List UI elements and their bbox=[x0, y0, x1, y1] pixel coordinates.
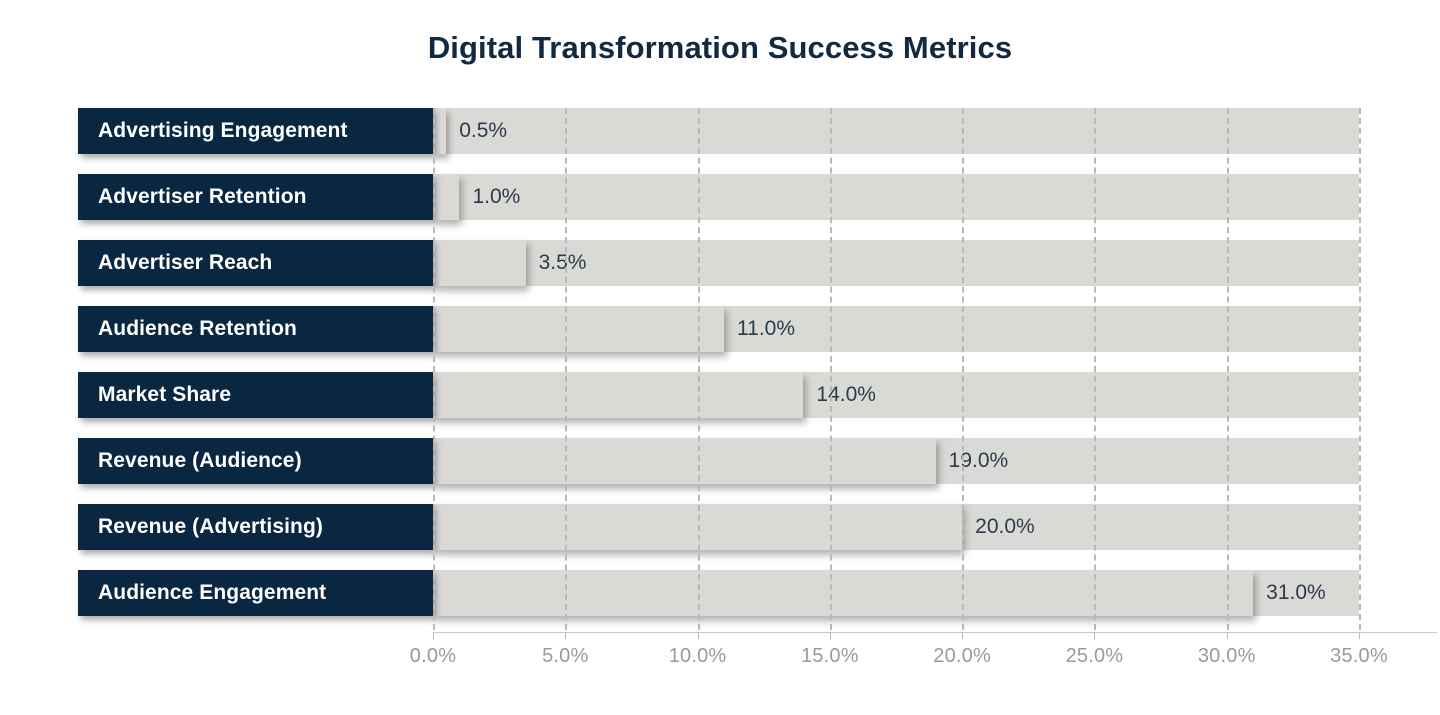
x-tick-label: 15.0% bbox=[801, 645, 859, 668]
value-label: 3.5% bbox=[539, 240, 587, 286]
bar-track bbox=[433, 174, 1359, 220]
x-tick bbox=[962, 632, 963, 639]
bar-row[interactable]: Advertiser Retention1.0% bbox=[78, 174, 1359, 220]
bar-fill[interactable] bbox=[433, 306, 724, 352]
bar-row[interactable]: Revenue (Advertising)20.0% bbox=[78, 504, 1359, 550]
bar-row[interactable]: Audience Retention11.0% bbox=[78, 306, 1359, 352]
bar-fill[interactable] bbox=[433, 108, 446, 154]
value-label: 1.0% bbox=[472, 174, 520, 220]
category-panel[interactable]: Advertiser Reach bbox=[78, 240, 433, 286]
category-panel[interactable]: Revenue (Audience) bbox=[78, 438, 433, 484]
x-tick bbox=[1359, 632, 1360, 639]
x-tick bbox=[1094, 632, 1095, 639]
axis-baseline bbox=[433, 632, 1437, 633]
category-panel[interactable]: Advertising Engagement bbox=[78, 108, 433, 154]
x-tick-label: 35.0% bbox=[1330, 645, 1388, 668]
category-label: Advertiser Reach bbox=[98, 240, 272, 286]
category-panel[interactable]: Revenue (Advertising) bbox=[78, 504, 433, 550]
value-label: 31.0% bbox=[1266, 570, 1326, 616]
x-tick-label: 0.0% bbox=[410, 645, 456, 668]
value-label: 0.5% bbox=[459, 108, 507, 154]
value-label: 19.0% bbox=[949, 438, 1009, 484]
bar-fill[interactable] bbox=[433, 438, 936, 484]
x-axis: 0.0%5.0%10.0%15.0%20.0%25.0%30.0%35.0% bbox=[78, 632, 1359, 692]
value-label: 14.0% bbox=[816, 372, 876, 418]
x-tick bbox=[830, 632, 831, 639]
chart-container: Digital Transformation Success Metrics A… bbox=[0, 0, 1440, 715]
category-panel[interactable]: Advertiser Retention bbox=[78, 174, 433, 220]
value-label: 20.0% bbox=[975, 504, 1035, 550]
x-tick bbox=[565, 632, 566, 639]
bar-fill[interactable] bbox=[433, 570, 1253, 616]
x-tick-label: 30.0% bbox=[1198, 645, 1256, 668]
category-panel[interactable]: Audience Engagement bbox=[78, 570, 433, 616]
chart-title: Digital Transformation Success Metrics bbox=[0, 30, 1440, 66]
x-tick bbox=[1227, 632, 1228, 639]
x-tick bbox=[698, 632, 699, 639]
category-label: Revenue (Audience) bbox=[98, 438, 302, 484]
category-label: Audience Retention bbox=[98, 306, 297, 352]
bar-fill[interactable] bbox=[433, 240, 526, 286]
bar-row[interactable]: Advertising Engagement0.5% bbox=[78, 108, 1359, 154]
plot-area: Advertising Engagement0.5%Advertiser Ret… bbox=[78, 108, 1359, 632]
category-label: Advertising Engagement bbox=[98, 108, 348, 154]
bar-fill[interactable] bbox=[433, 372, 803, 418]
x-tick-label: 10.0% bbox=[669, 645, 727, 668]
value-label: 11.0% bbox=[737, 306, 795, 352]
gridline-350 bbox=[1359, 108, 1361, 630]
category-label: Advertiser Retention bbox=[98, 174, 307, 220]
bar-track bbox=[433, 108, 1359, 154]
x-tick-label: 25.0% bbox=[1066, 645, 1124, 668]
category-label: Market Share bbox=[98, 372, 231, 418]
bar-fill[interactable] bbox=[433, 504, 962, 550]
bar-row[interactable]: Advertiser Reach3.5% bbox=[78, 240, 1359, 286]
x-tick-label: 20.0% bbox=[933, 645, 991, 668]
x-tick bbox=[433, 632, 434, 639]
x-tick-label: 5.0% bbox=[542, 645, 588, 668]
bar-row[interactable]: Audience Engagement31.0% bbox=[78, 570, 1359, 616]
category-panel[interactable]: Market Share bbox=[78, 372, 433, 418]
category-label: Revenue (Advertising) bbox=[98, 504, 323, 550]
bar-row[interactable]: Revenue (Audience)19.0% bbox=[78, 438, 1359, 484]
category-label: Audience Engagement bbox=[98, 570, 326, 616]
bar-fill[interactable] bbox=[433, 174, 459, 220]
category-panel[interactable]: Audience Retention bbox=[78, 306, 433, 352]
bar-row[interactable]: Market Share14.0% bbox=[78, 372, 1359, 418]
